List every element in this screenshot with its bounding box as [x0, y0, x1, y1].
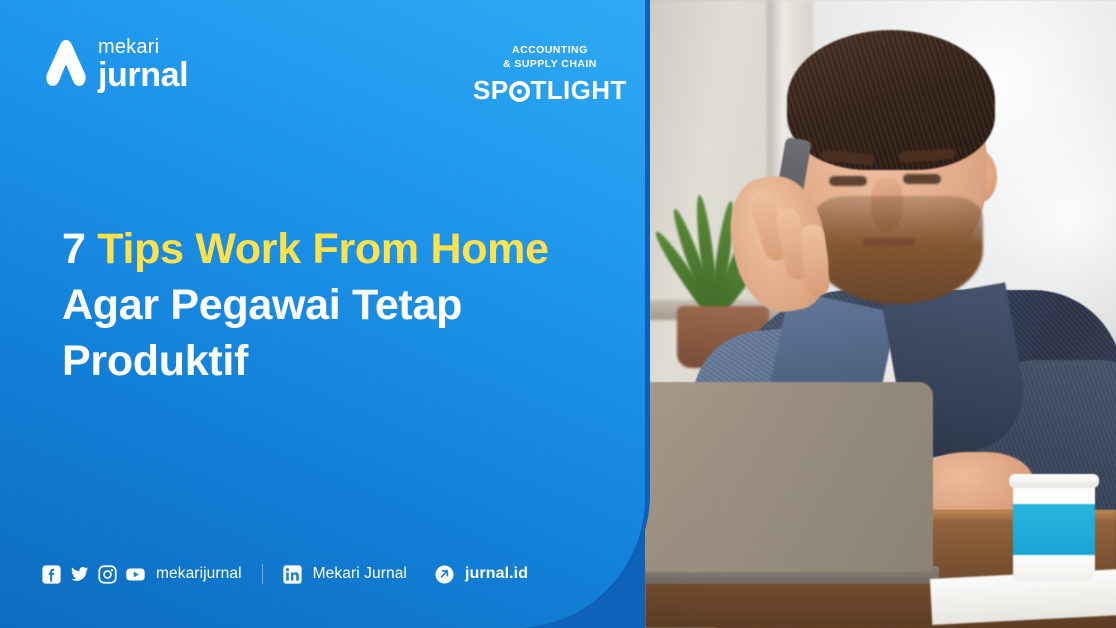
photo-coffee-cup-lip	[1009, 474, 1099, 488]
linkedin-icon[interactable]	[283, 565, 302, 584]
footer-divider	[262, 564, 263, 584]
spotlight-wordmark: SP TLIGHT	[473, 75, 627, 106]
facebook-icon[interactable]	[42, 565, 61, 584]
twitter-icon[interactable]	[70, 565, 89, 584]
youtube-icon[interactable]	[126, 565, 145, 584]
page-title: 7 Tips Work From Home Agar Pegawai Tetap…	[62, 222, 602, 390]
instagram-icon[interactable]	[98, 565, 117, 584]
arrow-link-icon[interactable]	[435, 565, 454, 584]
spotlight-target-o-icon	[509, 81, 530, 102]
headline-rest: Agar Pegawai Tetap Produktif	[62, 281, 462, 385]
headline-highlight: Tips Work From Home	[97, 225, 548, 273]
spotlight-word-part2: TLIGHT	[530, 75, 626, 106]
footer-bar: mekarijurnal Mekari Jurnal jurnal.id	[42, 564, 528, 584]
social-icons	[42, 565, 145, 584]
spotlight-badge: ACCOUNTING & SUPPLY CHAIN SP TLIGHT	[473, 44, 627, 106]
photo-coffee-cup	[1013, 476, 1095, 582]
social-group: mekarijurnal	[42, 565, 242, 584]
spotlight-kicker-line1: ACCOUNTING	[473, 44, 627, 58]
mekari-arrow-logo-icon	[44, 36, 88, 92]
linkedin-label: Mekari Jurnal	[313, 565, 407, 583]
social-handle: mekarijurnal	[156, 565, 242, 583]
linkedin-group: Mekari Jurnal	[283, 565, 407, 584]
spotlight-kicker-line2: & SUPPLY CHAIN	[473, 58, 627, 72]
spotlight-word-part1: SP	[473, 75, 508, 106]
logo-text-jurnal: jurnal	[98, 58, 188, 92]
headline-number: 7	[62, 225, 97, 273]
banner: mekari jurnal ACCOUNTING & SUPPLY CHAIN …	[0, 0, 1116, 628]
brand-logo[interactable]: mekari jurnal	[44, 36, 188, 92]
photo-laptop	[645, 382, 933, 572]
hero-photo	[645, 0, 1116, 628]
spotlight-kicker: ACCOUNTING & SUPPLY CHAIN	[473, 44, 627, 72]
website-label: jurnal.id	[465, 565, 528, 583]
website-group[interactable]: jurnal.id	[435, 565, 528, 584]
logo-text-mekari: mekari	[98, 37, 188, 57]
